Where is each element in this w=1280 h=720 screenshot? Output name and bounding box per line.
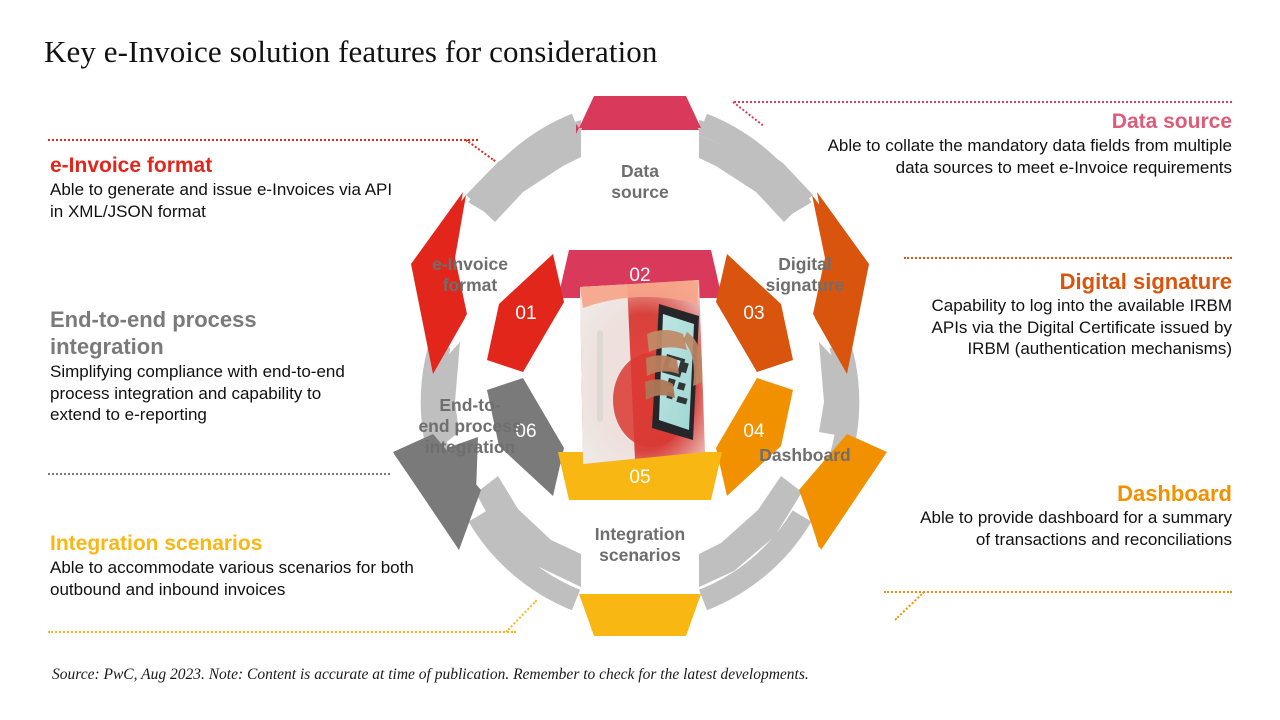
- callout-end-to-end: End-to-end process integration Simplifyi…: [50, 306, 350, 426]
- center-photo: [572, 272, 717, 472]
- callout-digital-signature-body: Capability to log into the available IRB…: [912, 295, 1232, 360]
- callout-end-to-end-heading: End-to-end process integration: [50, 306, 350, 360]
- ring-label-data-source: Data source: [550, 161, 730, 203]
- inner-segment-number-03: 03: [743, 303, 764, 324]
- callout-einvoice-format-body: Able to generate and issue e-Invoices vi…: [50, 179, 395, 222]
- slide-canvas: Key e-Invoice solution features for cons…: [0, 0, 1280, 720]
- ring-label-integration-scenarios: Integration scenarios: [550, 524, 730, 566]
- inner-segment-number-02: 02: [629, 265, 650, 286]
- ring-label-dashboard: Dashboard: [730, 445, 880, 466]
- ring-label-end-to-end: End-to- end process integration: [395, 395, 545, 458]
- ring-diagram: 02 01 03 04 05 06: [347, 82, 933, 652]
- inner-segment-number-01: 01: [515, 303, 536, 324]
- inner-segment-number-04: 04: [743, 421, 765, 442]
- connector-line-dashboard: [884, 591, 1232, 593]
- callout-dashboard-heading: Dashboard: [912, 481, 1232, 506]
- ring-label-einvoice-format: e-Invoice format: [395, 254, 545, 296]
- callout-digital-signature: Digital signature Capability to log into…: [912, 269, 1232, 360]
- source-note: Source: PwC, Aug 2023. Note: Content is …: [52, 666, 809, 684]
- connector-line-digital-signature: [904, 257, 1232, 259]
- ring-label-digital-signature: Digital signature: [730, 254, 880, 296]
- callout-einvoice-format: e-Invoice format Able to generate and is…: [50, 153, 395, 222]
- inner-segment-number-05: 05: [629, 467, 650, 488]
- page-title: Key e-Invoice solution features for cons…: [44, 34, 658, 70]
- callout-end-to-end-body: Simplifying compliance with end-to-end p…: [50, 361, 350, 426]
- callout-dashboard: Dashboard Able to provide dashboard for …: [912, 481, 1232, 550]
- connector-line-end-to-end: [48, 473, 390, 475]
- callout-dashboard-body: Able to provide dashboard for a summary …: [912, 507, 1232, 550]
- callout-digital-signature-heading: Digital signature: [912, 269, 1232, 294]
- callout-einvoice-format-heading: e-Invoice format: [50, 153, 395, 178]
